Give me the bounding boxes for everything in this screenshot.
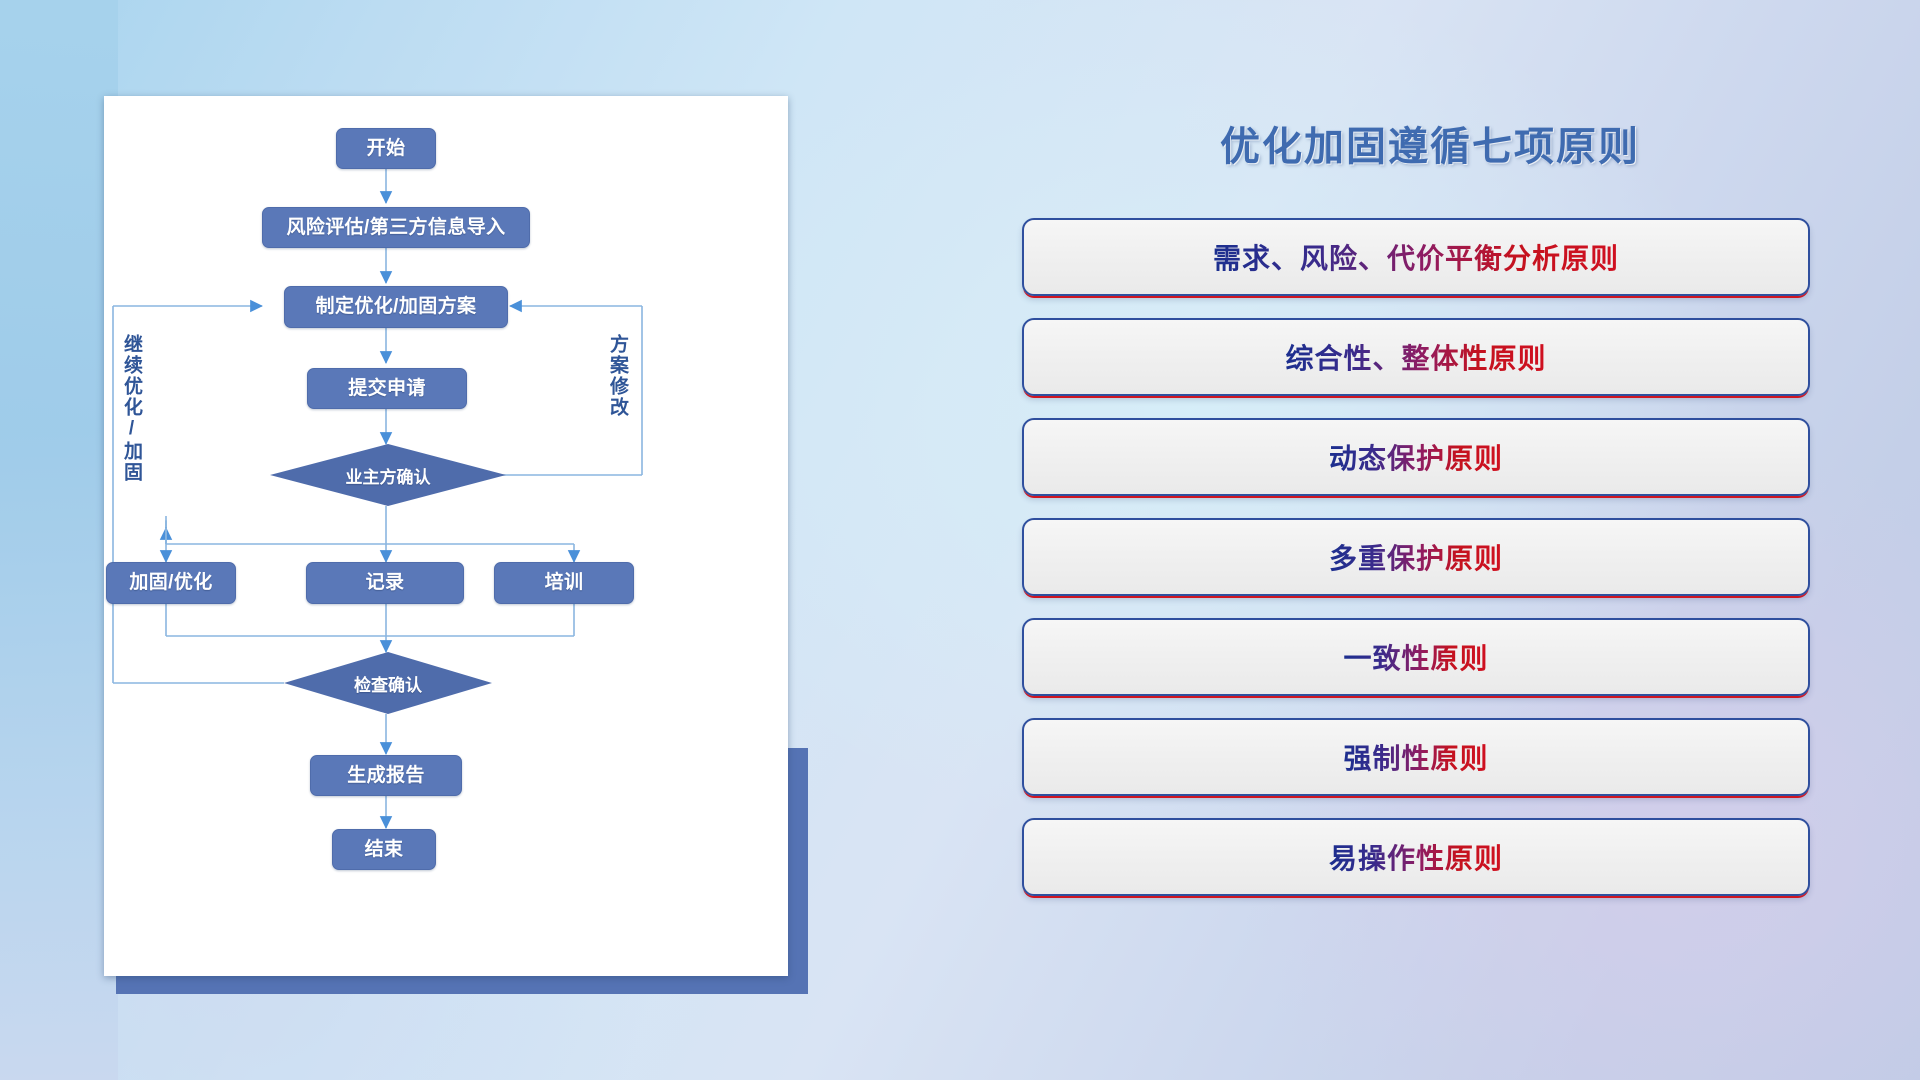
flow-node-submit[interactable]: 提交申请	[307, 368, 467, 409]
principle-item-7[interactable]: 易操作性原则	[1022, 818, 1810, 896]
principle-item-1[interactable]: 需求、风险、代价平衡分析原则	[1022, 218, 1810, 296]
principle-item-4-label: 多重保护原则	[1329, 537, 1503, 577]
flow-decision-owner-label: 业主方确认	[346, 463, 431, 488]
flow-decision-owner[interactable]: 业主方确认	[270, 444, 506, 506]
flow-node-risk-label: 风险评估/第三方信息导入	[286, 218, 505, 238]
flow-node-risk[interactable]: 风险评估/第三方信息导入	[262, 207, 530, 248]
principle-item-6[interactable]: 强制性原则	[1022, 718, 1810, 796]
flow-node-reinforce-label: 加固/优化	[129, 573, 212, 593]
flow-decision-check[interactable]: 检查确认	[284, 652, 492, 714]
flow-node-record-label: 记录	[366, 573, 405, 593]
flow-node-plan-label: 制定优化/加固方案	[316, 297, 477, 317]
flow-node-submit-label: 提交申请	[348, 379, 426, 399]
flowchart: 开始 风险评估/第三方信息导入 制定优化/加固方案 提交申请 业主方确认 加固/…	[104, 96, 788, 976]
principle-item-3[interactable]: 动态保护原则	[1022, 418, 1810, 496]
principle-item-4[interactable]: 多重保护原则	[1022, 518, 1810, 596]
flow-node-end-label: 结束	[365, 840, 404, 860]
flow-decision-check-label: 检查确认	[354, 671, 422, 696]
principle-item-2-label: 综合性、整体性原则	[1285, 337, 1546, 377]
principle-item-3-label: 动态保护原则	[1329, 437, 1503, 477]
flow-edge-label-left-loop: 继续优化/加固	[122, 334, 141, 483]
principle-item-2[interactable]: 综合性、整体性原则	[1022, 318, 1810, 396]
background-left-band	[0, 0, 118, 1080]
flow-node-record[interactable]: 记录	[306, 562, 464, 604]
principle-item-5-label: 一致性原则	[1343, 637, 1488, 677]
flow-node-report[interactable]: 生成报告	[310, 755, 462, 796]
principle-item-7-label: 易操作性原则	[1329, 837, 1503, 877]
flow-edge-label-right-loop: 方案修改	[608, 334, 627, 418]
flow-node-reinforce[interactable]: 加固/优化	[106, 562, 236, 604]
flow-node-plan[interactable]: 制定优化/加固方案	[284, 286, 508, 328]
flow-node-start-label: 开始	[367, 139, 406, 159]
flow-node-start[interactable]: 开始	[336, 128, 436, 169]
flow-node-report-label: 生成报告	[347, 766, 425, 786]
principle-item-1-label: 需求、风险、代价平衡分析原则	[1213, 237, 1619, 277]
flow-node-train[interactable]: 培训	[494, 562, 634, 604]
panel-title: 优化加固遵循七项原则	[1020, 114, 1840, 172]
principle-item-6-label: 强制性原则	[1343, 737, 1488, 777]
principles-panel: 优化加固遵循七项原则 需求、风险、代价平衡分析原则 综合性、整体性原则 动态保护…	[1020, 96, 1840, 1016]
flow-node-end[interactable]: 结束	[332, 829, 436, 870]
flow-node-train-label: 培训	[545, 573, 584, 593]
principle-item-5[interactable]: 一致性原则	[1022, 618, 1810, 696]
